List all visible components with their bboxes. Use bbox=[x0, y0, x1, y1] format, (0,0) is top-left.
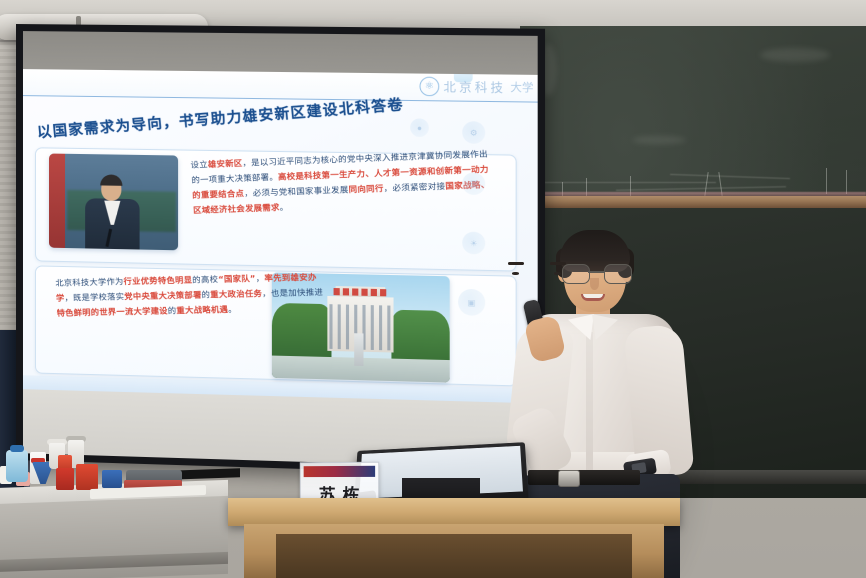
slide-text-run: 行业优势特色明显 bbox=[123, 275, 192, 287]
campus-building-sign bbox=[334, 288, 388, 296]
leader-speech-photo bbox=[49, 154, 178, 251]
projection-screen-surface: ⚛ 北京科技 大学 以国家需求为导向，书写助力雄安新区建设北科答卷 bbox=[23, 31, 538, 469]
chalk-ledge bbox=[520, 196, 866, 208]
slide-text-run: ，必须紧密对接 bbox=[383, 181, 445, 193]
slide-text-run: 党中央重大决策部署 bbox=[124, 290, 202, 302]
nameplate-color-band bbox=[304, 466, 375, 477]
slide-text-run: 同向同行 bbox=[348, 183, 384, 194]
slide-text-run: 的高校 bbox=[192, 274, 218, 285]
chalk-smudge bbox=[760, 48, 830, 62]
slide-text-run: 重大政治任务 bbox=[210, 288, 262, 299]
speaker-belt bbox=[528, 470, 640, 485]
lectern-top bbox=[228, 498, 680, 526]
watermark-icon: ▣ bbox=[458, 289, 485, 316]
presentation-slide: ⚛ 北京科技 大学 以国家需求为导向，书写助力雄安新区建设北科答卷 bbox=[23, 69, 538, 403]
slide-paragraph-bottom: 北京科技大学作为行业优势特色明显的高校“国家队”，率先到雄安办学，既是学校落实党… bbox=[55, 269, 331, 321]
slide-paragraph-top: 设立雄安新区，是以习近平同志为核心的党中央深入推进京津冀协同发展作出的一项重大决… bbox=[190, 146, 498, 218]
lectern-inner bbox=[276, 534, 632, 578]
logo-text-cn-tail: 大学 bbox=[510, 79, 533, 96]
lecture-hall-scene: ⚛ 北京科技 大学 以国家需求为导向，书写助力雄安新区建设北科答卷 bbox=[0, 0, 866, 578]
slide-text-run: 北京科技大学作为 bbox=[55, 276, 124, 288]
counter-item-blue-jug[interactable] bbox=[6, 450, 28, 482]
slide-text-run: 雄安新区 bbox=[208, 158, 243, 169]
chalk-line bbox=[670, 174, 790, 179]
watermark-icon: ⚙ bbox=[462, 121, 485, 144]
slide-text-run: ，必须与党和国家事业发展 bbox=[244, 184, 349, 198]
chalk-line bbox=[616, 186, 786, 191]
slide-text-run: ，既是学校落实 bbox=[64, 291, 124, 302]
slide-text-run: 。 bbox=[228, 304, 237, 314]
chalk-line bbox=[536, 182, 716, 183]
slide-text-run: 设立 bbox=[190, 159, 208, 170]
chalk-tick bbox=[846, 170, 847, 194]
counter-item-red-box[interactable] bbox=[56, 468, 74, 490]
counter-item-red-box[interactable] bbox=[76, 464, 98, 490]
slide-text-run: 特色鲜明的世界一流大学建设 bbox=[56, 305, 168, 317]
watermark-icon: ☀ bbox=[462, 232, 485, 255]
slide-text-run: “国家队” bbox=[218, 273, 256, 284]
watermark-icon: ☰ bbox=[462, 172, 485, 195]
projection-screen: ⚛ 北京科技 大学 以国家需求为导向，书写助力雄安新区建设北科答卷 bbox=[16, 24, 545, 476]
counter-item-blue-box[interactable] bbox=[102, 470, 122, 488]
watermark-icon: ● bbox=[410, 118, 429, 137]
blue-jug-cap bbox=[10, 445, 24, 452]
belt-buckle-icon bbox=[558, 470, 580, 487]
slide-text-run: ，也是加快推进 bbox=[262, 287, 323, 299]
slide-text-run: 重大战略机遇 bbox=[176, 304, 228, 315]
chalk-tick bbox=[826, 168, 827, 194]
slide-text-run: 。 bbox=[279, 202, 288, 212]
chalk-smudge bbox=[632, 136, 686, 144]
